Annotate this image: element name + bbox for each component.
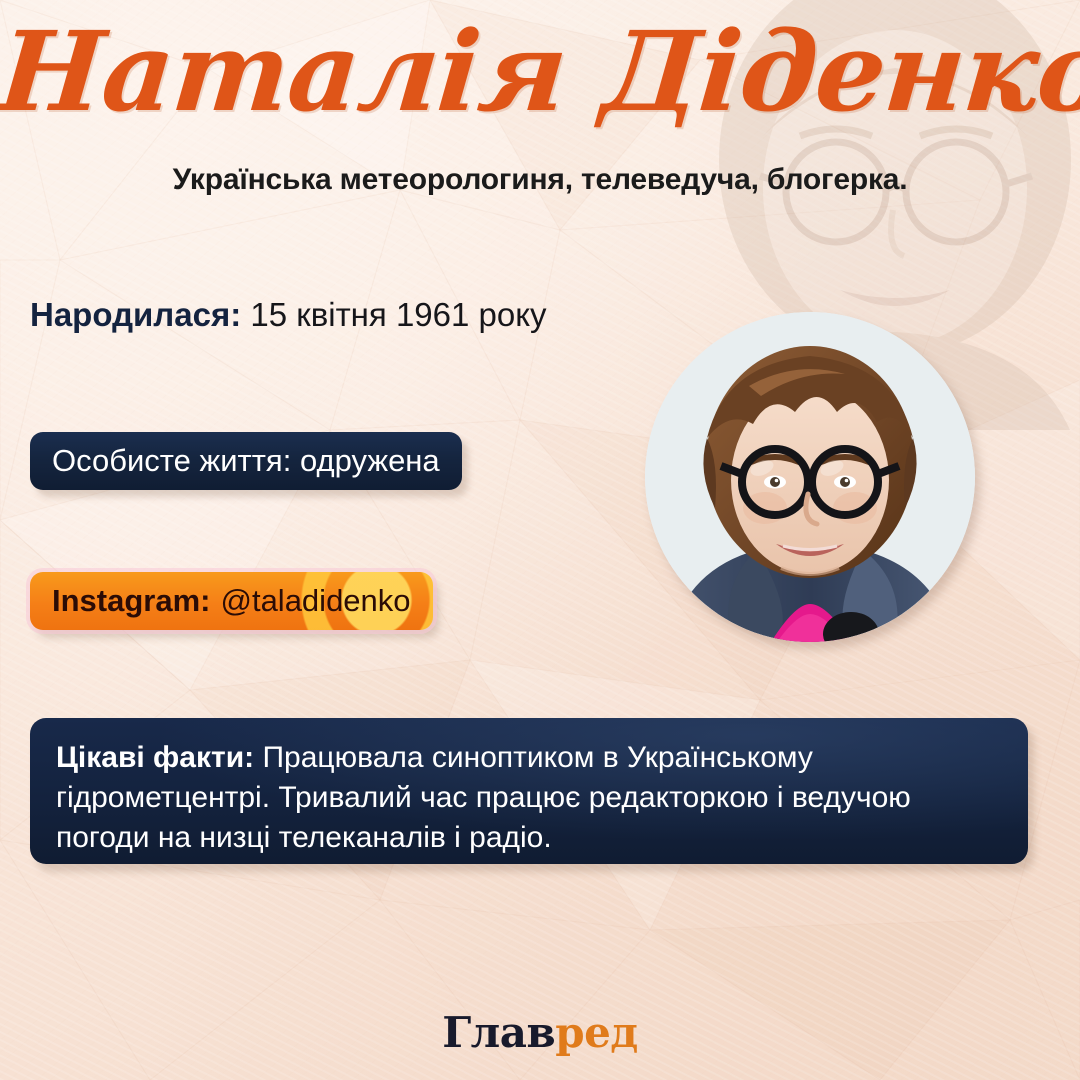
portrait-photo (645, 312, 975, 642)
born-label: Народилася: (30, 296, 241, 333)
interesting-facts-box: Цікаві факти: Працювала синоптиком в Укр… (30, 718, 1028, 864)
born-line: Народилася: 15 квітня 1961 року (30, 296, 547, 334)
portrait-photo-icon (645, 312, 975, 642)
facts-label: Цікаві факти: (56, 741, 254, 774)
page-title: Наталія Діденко (0, 14, 1080, 130)
personal-life-text: Особисте життя: одружена (52, 443, 440, 479)
logo-part-glav: Глав (442, 1008, 555, 1057)
born-value: 15 квітня 1961 року (250, 296, 546, 333)
site-logo[interactable]: Главред (0, 1008, 1080, 1057)
instagram-badge[interactable]: Instagram: @taladidenko (30, 572, 433, 630)
instagram-label: Instagram: (52, 583, 210, 619)
infographic-card: Наталія Діденко Українська метеорологиня… (0, 0, 1080, 1080)
page-subtitle: Українська метеорологиня, телеведуча, бл… (0, 163, 1080, 197)
logo-part-red: ред (555, 1008, 638, 1057)
instagram-handle: @taladidenko (220, 583, 410, 619)
personal-life-badge: Особисте життя: одружена (30, 432, 462, 490)
